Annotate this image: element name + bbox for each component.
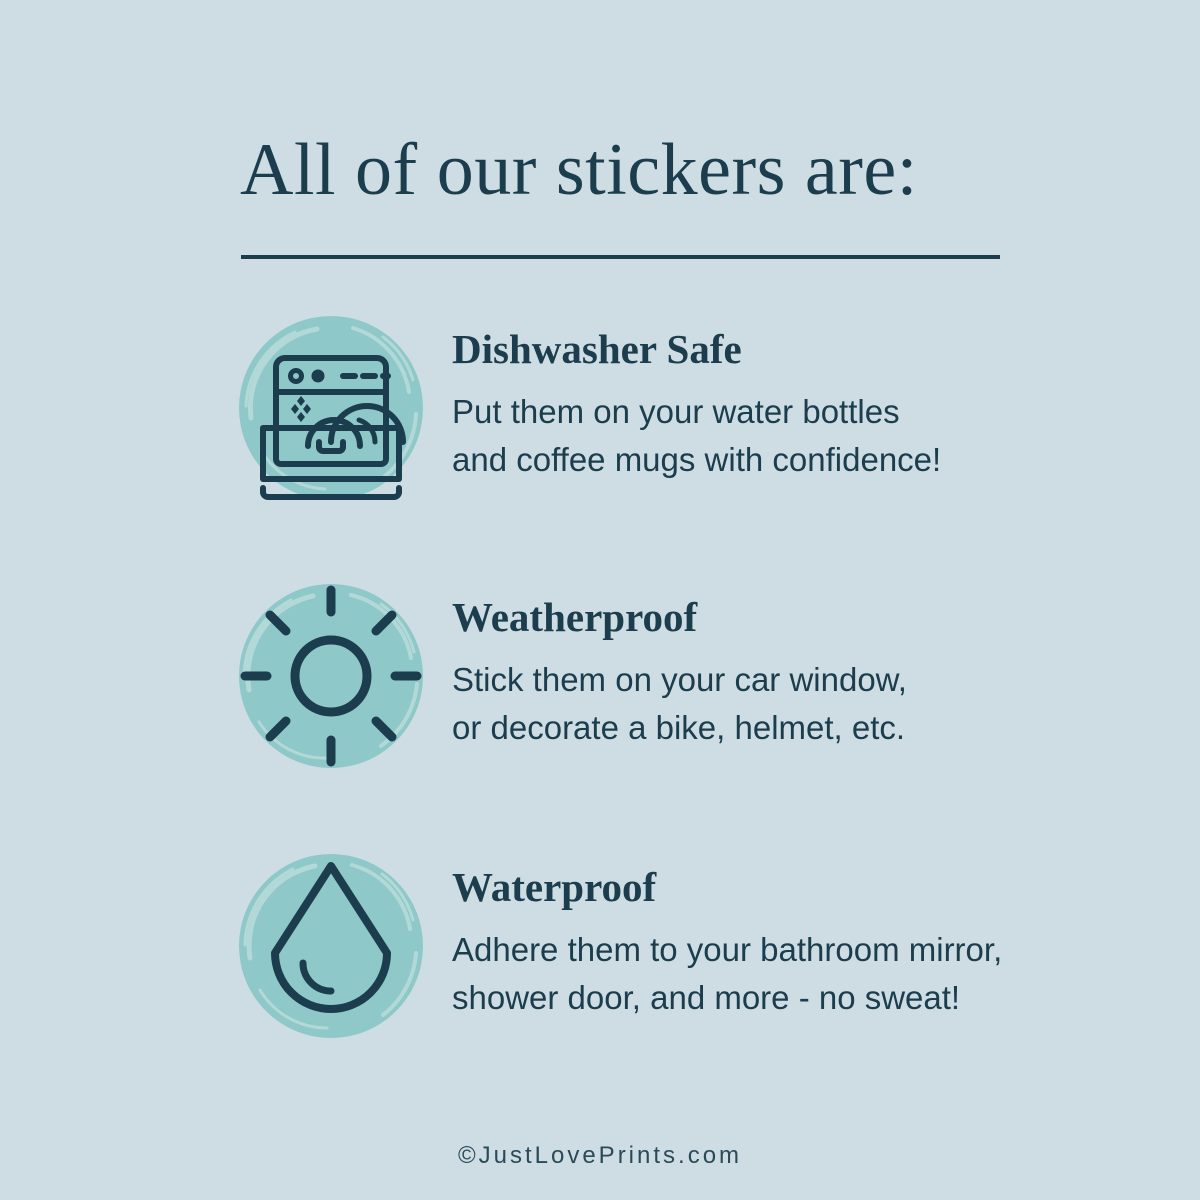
sun-icon-badge [233,578,429,774]
feature-text: Waterproof Adhere them to your bathroom … [452,848,1152,1022]
feature-row: Waterproof Adhere them to your bathroom … [0,848,1200,1048]
feature-title: Waterproof [452,848,1152,912]
feature-description: Adhere them to your bathroom mirror, sho… [452,912,1152,1022]
sun-icon [233,578,429,774]
feature-row: Weatherproof Stick them on your car wind… [0,578,1200,778]
page-title: All of our stickers are: [240,125,1000,215]
feature-title: Weatherproof [452,578,1152,642]
dishwasher-icon [233,310,429,506]
feature-description-line: and coffee mugs with confidence! [452,436,1152,484]
feature-title: Dishwasher Safe [452,310,1152,374]
feature-text: Dishwasher Safe Put them on your water b… [452,310,1152,484]
poster-canvas: All of our stickers are: [0,0,1200,1200]
feature-description-line: shower door, and more - no sweat! [452,974,1152,1022]
feature-text: Weatherproof Stick them on your car wind… [452,578,1152,752]
water-drop-icon-badge [233,848,429,1044]
feature-description: Put them on your water bottles and coffe… [452,374,1152,484]
feature-description-line: Stick them on your car window, [452,656,1152,704]
water-drop-icon [233,848,429,1044]
feature-row: Dishwasher Safe Put them on your water b… [0,310,1200,510]
feature-description-line: Put them on your water bottles [452,388,1152,436]
dishwasher-icon-badge [233,310,429,506]
feature-description-line: or decorate a bike, helmet, etc. [452,704,1152,752]
title-divider [241,255,1000,259]
feature-description: Stick them on your car window, or decora… [452,642,1152,752]
footer-credit: ©JustLovePrints.com [0,1142,1200,1170]
feature-description-line: Adhere them to your bathroom mirror, [452,926,1152,974]
